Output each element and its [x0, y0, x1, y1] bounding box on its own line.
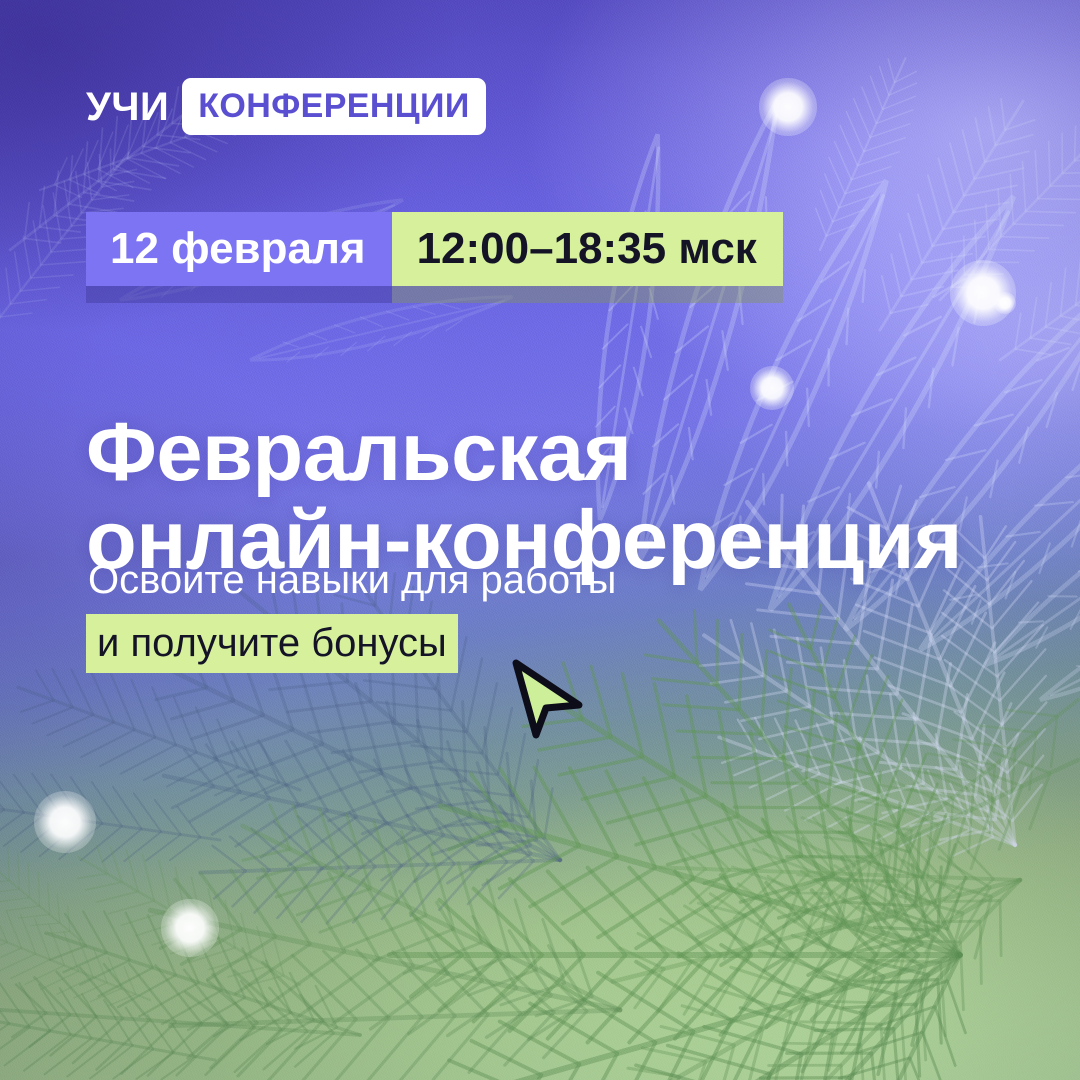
brand-logo[interactable]: УЧИ КОНФЕРЕНЦИИ — [86, 78, 486, 135]
promo-poster: УЧИ КОНФЕРЕНЦИИ 12 февраля 12:00–18:35 м… — [0, 0, 1080, 1080]
subtitle: Освойте навыки для работы и получите бон… — [86, 560, 618, 673]
logo-pill-badge: КОНФЕРЕНЦИИ — [182, 78, 485, 135]
event-badges: 12 февраля 12:00–18:35 мск — [86, 212, 783, 286]
poster-content: УЧИ КОНФЕРЕНЦИИ 12 февраля 12:00–18:35 м… — [0, 0, 1080, 1080]
event-time-badge: 12:00–18:35 мск — [392, 212, 783, 286]
event-date-badge: 12 февраля — [86, 212, 392, 286]
logo-wordmark: УЧИ — [86, 87, 169, 127]
subtitle-line-1: Освойте навыки для работы — [86, 560, 618, 600]
subtitle-highlight: и получите бонусы — [86, 614, 458, 673]
headline-line-1: Февральская — [86, 405, 631, 498]
